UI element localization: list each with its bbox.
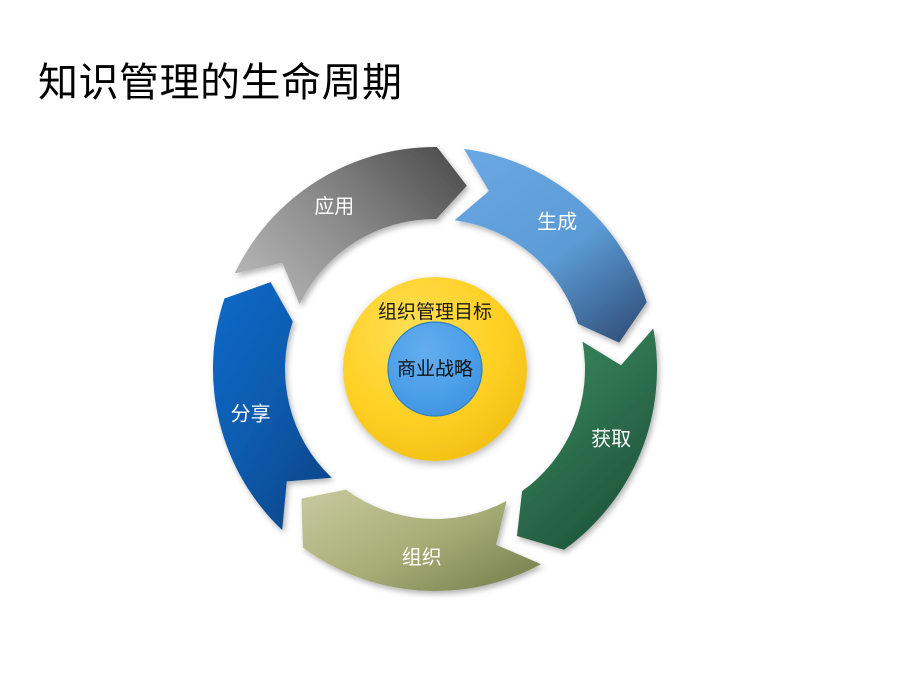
- cycle-segment-acquire[interactable]: [517, 329, 657, 550]
- cycle-segment-acquire-shape[interactable]: [517, 329, 657, 550]
- cycle-segment-share[interactable]: [213, 282, 332, 530]
- cycle-diagram-container[interactable]: 生成获取组织分享应用 组织管理目标 商业战略: [195, 138, 675, 600]
- cycle-hub[interactable]: [343, 277, 527, 461]
- cycle-segment-share-shape[interactable]: [213, 282, 332, 530]
- hub-inner-circle[interactable]: [388, 322, 482, 416]
- page-title: 知识管理的生命周期: [38, 60, 403, 106]
- knowledge-lifecycle-diagram[interactable]: 生成获取组织分享应用 组织管理目标 商业战略: [195, 138, 675, 600]
- cycle-segment-organize-shape[interactable]: [302, 490, 541, 591]
- cycle-segment-organize[interactable]: [302, 490, 541, 591]
- slide-canvas: 知识管理的生命周期: [0, 0, 900, 675]
